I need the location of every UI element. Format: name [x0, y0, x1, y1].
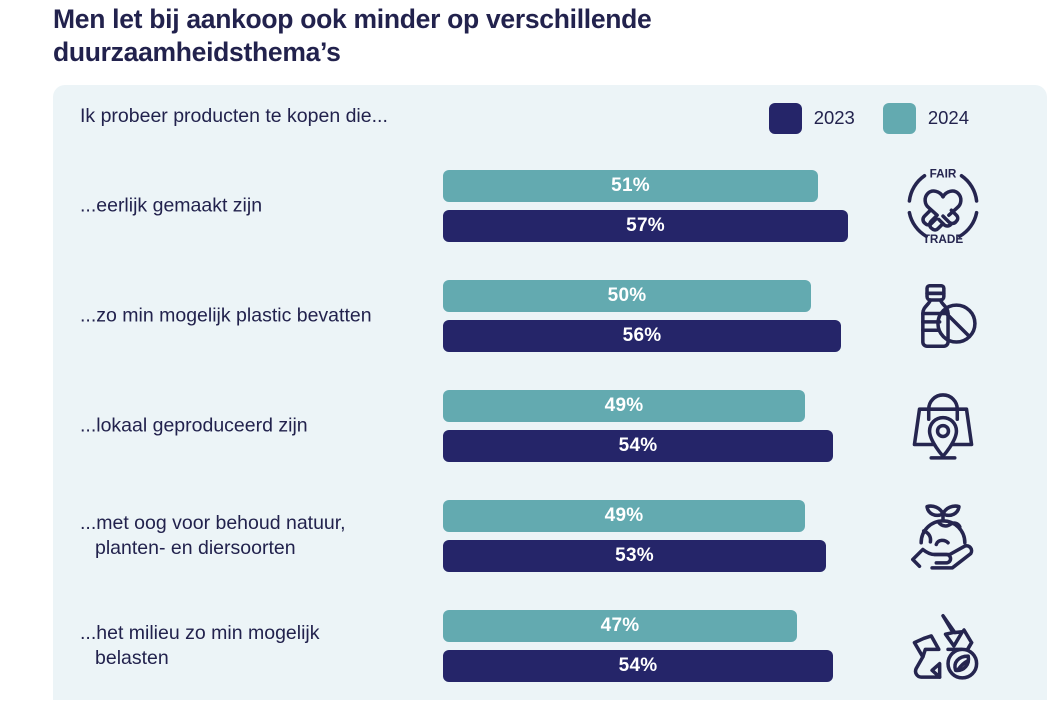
fair-trade-handshake-icon: FAIR TRADE: [901, 164, 985, 248]
legend-label-2023: 2023: [814, 109, 855, 128]
bar-2023[interactable]: 56%: [443, 320, 841, 352]
page-title: Men let bij aankoop ook minder op versch…: [53, 0, 813, 69]
row-label-line: ...met oog voor behoud natuur,: [80, 511, 440, 536]
svg-text:FAIR: FAIR: [930, 167, 957, 180]
bar-2024[interactable]: 47%: [443, 610, 797, 642]
bar-value-2023: 54%: [619, 435, 658, 457]
no-plastic-bottle-icon: [901, 274, 985, 358]
row-label-line: ...lokaal geproduceerd zijn: [80, 414, 440, 439]
chart-row: ...met oog voor behoud natuur, planten- …: [53, 481, 1047, 591]
chart-rows: ...eerlijk gemaakt zijn 51% 57%: [53, 151, 1047, 701]
row-bars: 49% 53%: [443, 500, 863, 572]
bar-2024[interactable]: 49%: [443, 390, 805, 422]
row-label: ...het milieu zo min mogelijk belasten: [80, 621, 440, 671]
bar-value-2024: 49%: [605, 505, 644, 527]
svg-text:TRADE: TRADE: [923, 233, 964, 246]
legend-swatch-2024-icon: [883, 103, 916, 134]
row-label-line: belasten: [80, 646, 440, 671]
page-title-line-2: duurzaamheidsthema’s: [53, 36, 813, 69]
chart-page: Men let bij aankoop ook minder op versch…: [0, 0, 1053, 700]
recycle-leaf-icon: [901, 604, 985, 688]
row-label: ...eerlijk gemaakt zijn: [80, 194, 440, 219]
local-shopping-bag-pin-icon: [901, 384, 985, 468]
legend-row: Ik probeer producten te kopen die... 202…: [53, 85, 1047, 151]
chart-row: ...lokaal geproduceerd zijn 49% 54%: [53, 371, 1047, 481]
row-label-line: planten- en diersoorten: [80, 536, 440, 561]
chart-row: ...zo min mogelijk plastic bevatten 50% …: [53, 261, 1047, 371]
bar-value-2023: 56%: [623, 325, 662, 347]
row-label: ...lokaal geproduceerd zijn: [80, 414, 440, 439]
bar-value-2023: 57%: [626, 215, 665, 237]
row-bars: 50% 56%: [443, 280, 863, 352]
row-bars: 49% 54%: [443, 390, 863, 462]
bar-value-2023: 54%: [619, 655, 658, 677]
bar-value-2024: 51%: [611, 175, 650, 197]
bar-value-2024: 49%: [605, 395, 644, 417]
bar-2023[interactable]: 54%: [443, 650, 833, 682]
bar-2023[interactable]: 53%: [443, 540, 826, 572]
bar-2024[interactable]: 50%: [443, 280, 811, 312]
bar-2024[interactable]: 49%: [443, 500, 805, 532]
row-label-line: ...zo min mogelijk plastic bevatten: [80, 304, 440, 329]
bar-2023[interactable]: 57%: [443, 210, 848, 242]
chart-row: ...het milieu zo min mogelijk belasten 4…: [53, 591, 1047, 701]
bar-value-2024: 47%: [601, 615, 640, 637]
legend-label-2024: 2024: [928, 109, 969, 128]
legend-items: 2023 2024: [769, 103, 969, 134]
bar-2024[interactable]: 51%: [443, 170, 818, 202]
hand-holding-earth-sprout-icon: [901, 494, 985, 578]
row-label-line: ...het milieu zo min mogelijk: [80, 621, 440, 646]
chart-row: ...eerlijk gemaakt zijn 51% 57%: [53, 151, 1047, 261]
row-bars: 51% 57%: [443, 170, 863, 242]
bar-value-2024: 50%: [608, 285, 647, 307]
legend-item-2024[interactable]: 2024: [883, 103, 969, 134]
row-bars: 47% 54%: [443, 610, 863, 682]
legend-item-2023[interactable]: 2023: [769, 103, 855, 134]
bar-value-2023: 53%: [615, 545, 654, 567]
row-label: ...met oog voor behoud natuur, planten- …: [80, 511, 440, 561]
row-label-line: ...eerlijk gemaakt zijn: [80, 194, 440, 219]
row-label: ...zo min mogelijk plastic bevatten: [80, 304, 440, 329]
legend-question: Ik probeer producten te kopen die...: [80, 105, 388, 128]
bar-2023[interactable]: 54%: [443, 430, 833, 462]
legend-swatch-2023-icon: [769, 103, 802, 134]
chart-card: Ik probeer producten te kopen die... 202…: [53, 85, 1047, 700]
page-title-line-1: Men let bij aankoop ook minder op versch…: [53, 3, 813, 36]
